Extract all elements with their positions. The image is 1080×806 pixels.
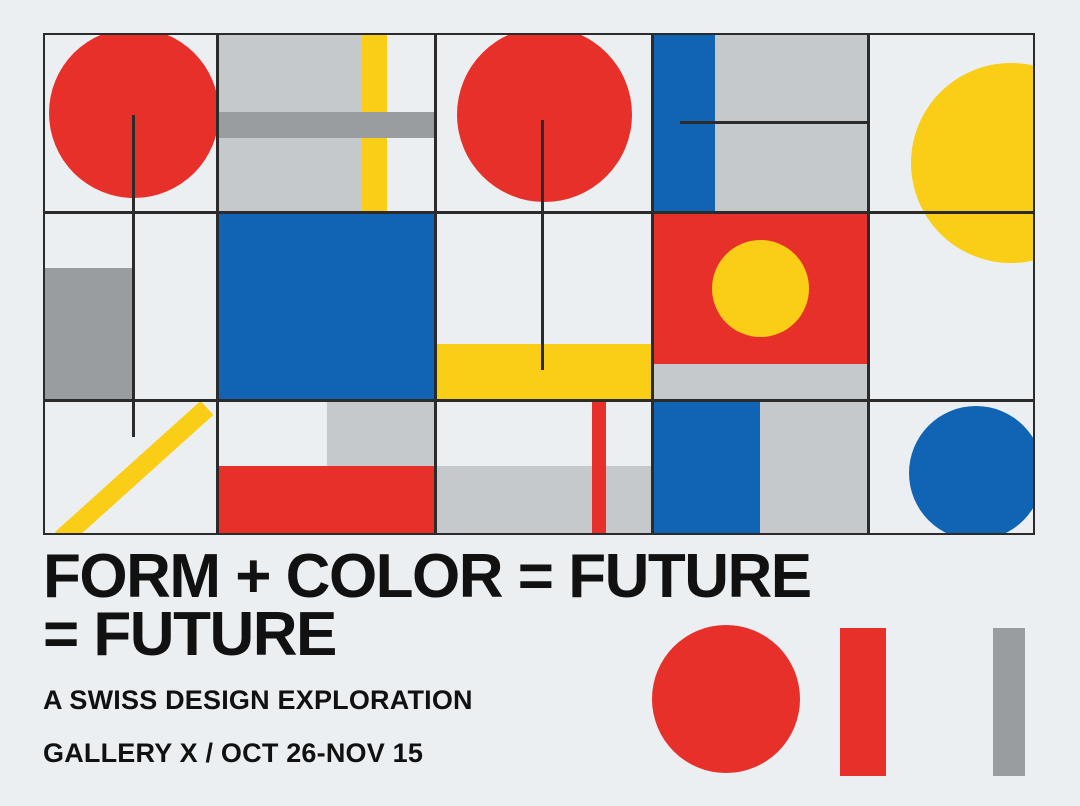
cell-r3c5 [868,400,1035,535]
circle-yellow-oversize-top [911,63,1035,212]
rect-gray-dark [43,268,132,400]
band-gray-bottom-r3c3 [435,466,652,535]
red-bar-mark [840,628,886,776]
headline-line-2: = FUTURE [43,606,1043,664]
poster-canvas: FORM + COLOR = FUTURE = FUTURE A SWISS D… [0,0,1080,806]
gray-bar-mark [993,628,1025,776]
cell-r2c5 [868,212,1035,400]
cell-r3c2 [217,400,435,535]
cell-r3c4 [652,400,868,535]
horizontal-rule-right [680,121,868,124]
cell-r3c1 [43,400,217,535]
credits: GALLERY X / OCT 26-NOV 15 [43,738,1043,769]
cell-r1c1 [43,33,217,212]
circle-blue [909,406,1035,535]
stripe-red-vertical [592,400,606,535]
red-ellipse-mark [652,625,800,773]
cell-r2c1 [43,212,217,400]
rect-gray-light-r3c2 [327,400,435,472]
subhead: A SWISS DESIGN EXPLORATION [43,685,1043,716]
bar-gray-horizontal [217,112,435,138]
bar-yellow-vertical-overlap [362,138,387,212]
band-red-bottom [217,466,435,535]
vertical-rule-left [132,115,135,437]
typography-block: FORM + COLOR = FUTURE = FUTURE A SWISS D… [43,548,1043,769]
circle-red-large-2 [457,33,632,202]
circle-yellow-dot [712,240,809,337]
rect-blue-full [217,212,435,400]
circle-yellow-oversize-bottom [911,212,1035,263]
artwork-grid [43,33,1035,535]
cell-r2c2 [217,212,435,400]
rect-gray-half [760,400,868,535]
cell-r1c5 [868,33,1035,212]
cell-r3c3 [435,400,652,535]
cell-r2c4 [652,212,868,400]
headline-line-1: FORM + COLOR = FUTURE [43,548,1043,606]
vertical-rule-center [541,120,544,370]
rect-blue-half [652,400,760,535]
cell-r1c2 [217,33,435,212]
